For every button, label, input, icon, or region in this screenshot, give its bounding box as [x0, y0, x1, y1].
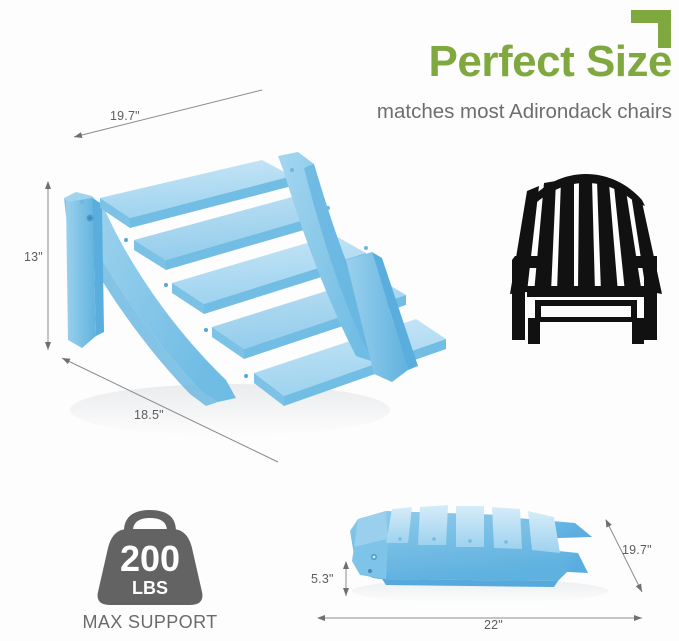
- dimension-main-width: 19.7": [110, 109, 140, 123]
- dimension-main-depth: 18.5": [134, 408, 164, 422]
- max-support-caption: MAX SUPPORT: [50, 612, 250, 633]
- dimension-folded-length: 22": [484, 618, 503, 632]
- dimension-folded-height: 5.3": [311, 572, 334, 586]
- main-dimension-lines: [0, 0, 679, 490]
- weight-value: 200: [120, 538, 180, 579]
- infographic-canvas: Perfect Size matches most Adirondack cha…: [0, 0, 679, 641]
- dimension-main-height: 13": [24, 250, 43, 264]
- weight-kettlebell-icon: 200 LBS: [80, 505, 220, 605]
- dimension-folded-diagonal: 19.7": [622, 543, 652, 557]
- folded-dimension-lines: [290, 480, 679, 641]
- weight-unit: LBS: [132, 578, 168, 598]
